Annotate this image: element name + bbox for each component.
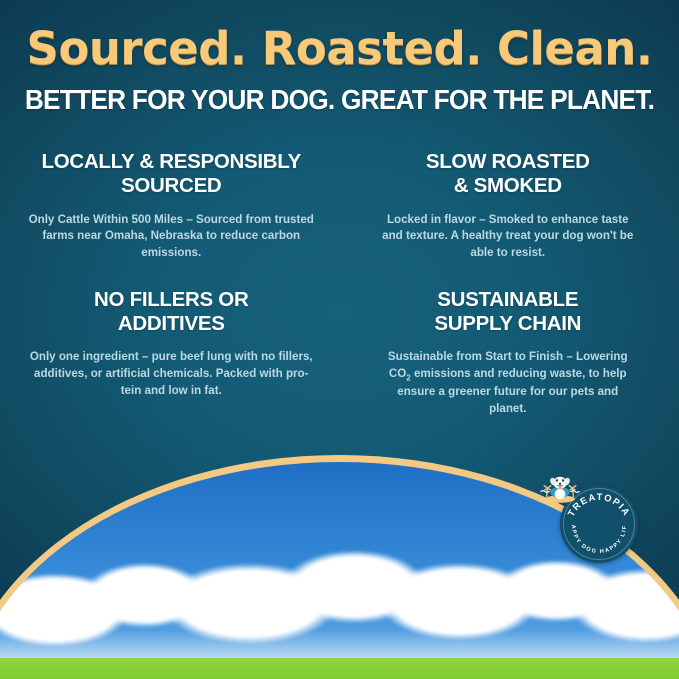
feature-body-part2: emissions and reducing waste, to help en… bbox=[397, 367, 626, 415]
page-subtitle: BETTER FOR YOUR DOG. GREAT FOR THE PLANE… bbox=[15, 84, 663, 116]
feature-title: NO FILLERS OR ADDITIVES bbox=[28, 288, 315, 336]
page-title: Sourced. Roasted. Clean. bbox=[0, 22, 679, 75]
feature-locally-sourced: LOCALLY & RESPONSIBLY SOURCED Only Cattl… bbox=[14, 150, 329, 262]
feature-title-line1: SLOW ROASTED bbox=[426, 150, 590, 173]
feature-slow-roasted: SLOW ROASTED & SMOKED Locked in flavor –… bbox=[351, 150, 666, 262]
feature-title-line1: LOCALLY & RESPONSIBLY bbox=[42, 150, 302, 173]
infographic-page: Sourced. Roasted. Clean. BETTER FOR YOUR… bbox=[0, 0, 679, 679]
feature-no-fillers: NO FILLERS OR ADDITIVES Only one ingredi… bbox=[14, 288, 329, 418]
feature-title-line2: SUPPLY CHAIN bbox=[434, 312, 581, 335]
brand-badge: TREATOPIA HAPPY DOG HAPPY LIFE bbox=[560, 485, 638, 563]
dog-mascot-icon bbox=[540, 468, 580, 508]
feature-title-line2: & SMOKED bbox=[454, 174, 562, 197]
feature-title: SUSTAINABLE SUPPLY CHAIN bbox=[381, 288, 636, 336]
feature-title-line1: NO FILLERS OR bbox=[94, 288, 248, 311]
grass-field bbox=[0, 658, 679, 679]
feature-sustainable-supply-chain: SUSTAINABLE SUPPLY CHAIN Sustainable fro… bbox=[351, 288, 666, 418]
feature-title-line1: SUSTAINABLE bbox=[437, 288, 578, 311]
feature-body: Only one ingredient – pure beef lung wit… bbox=[28, 349, 315, 399]
feature-grid: LOCALLY & RESPONSIBLY SOURCED Only Cattl… bbox=[14, 150, 665, 418]
feature-title-line2: SOURCED bbox=[121, 174, 221, 197]
feature-title: LOCALLY & RESPONSIBLY SOURCED bbox=[28, 150, 315, 198]
feature-body: Only Cattle Within 500 Miles – Sourced f… bbox=[28, 212, 315, 262]
feature-body: Sustainable from Start to Finish – Lower… bbox=[381, 349, 636, 417]
feature-body: Locked in flavor – Smoked to enhance tas… bbox=[381, 212, 636, 262]
feature-title-line2: ADDITIVES bbox=[118, 312, 225, 335]
feature-title: SLOW ROASTED & SMOKED bbox=[381, 150, 636, 198]
